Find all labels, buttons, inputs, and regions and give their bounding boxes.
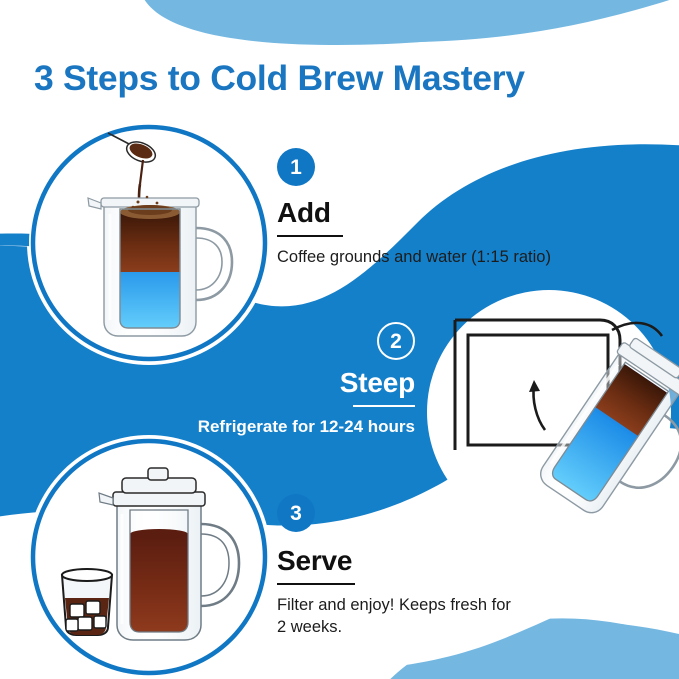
step-2-heading: Steep bbox=[340, 368, 415, 403]
step-2-description: Refrigerate for 12-24 hours bbox=[150, 416, 415, 438]
step-3-block: 3 Serve Filter and enjoy! Keeps fresh fo… bbox=[277, 494, 652, 638]
step3-circle-ring bbox=[33, 441, 265, 673]
step-1-block: 1 Add Coffee grounds and water (1:15 rat… bbox=[277, 148, 652, 269]
step-1-number-badge: 1 bbox=[277, 148, 315, 186]
step-1-underline bbox=[277, 235, 343, 237]
step-1-description: Coffee grounds and water (1:15 ratio) bbox=[277, 247, 652, 269]
step-2-block: 2 Steep Refrigerate for 12-24 hours bbox=[150, 322, 415, 438]
infographic-poster: 3 Steps to Cold Brew Mastery 1 Add Coffe… bbox=[0, 0, 679, 679]
step-1-heading: Add bbox=[277, 198, 331, 233]
illustration-pitcher-with-coffee-scoop bbox=[88, 133, 232, 336]
step-3-number-badge: 3 bbox=[277, 494, 315, 532]
step-3-heading: Serve bbox=[277, 546, 352, 581]
band-edge-accents bbox=[0, 234, 120, 263]
step-2-number-badge: 2 bbox=[377, 322, 415, 360]
top-wave-shape bbox=[140, 0, 679, 45]
step-3-description: Filter and enjoy! Keeps fresh for 2 week… bbox=[277, 595, 652, 639]
step-2-underline bbox=[353, 405, 415, 407]
step-3-underline bbox=[277, 583, 355, 585]
page-title: 3 Steps to Cold Brew Mastery bbox=[34, 58, 664, 99]
illustration-finished-carafe-with-iced-glass bbox=[62, 468, 239, 640]
step3-circle-bg bbox=[29, 437, 269, 677]
